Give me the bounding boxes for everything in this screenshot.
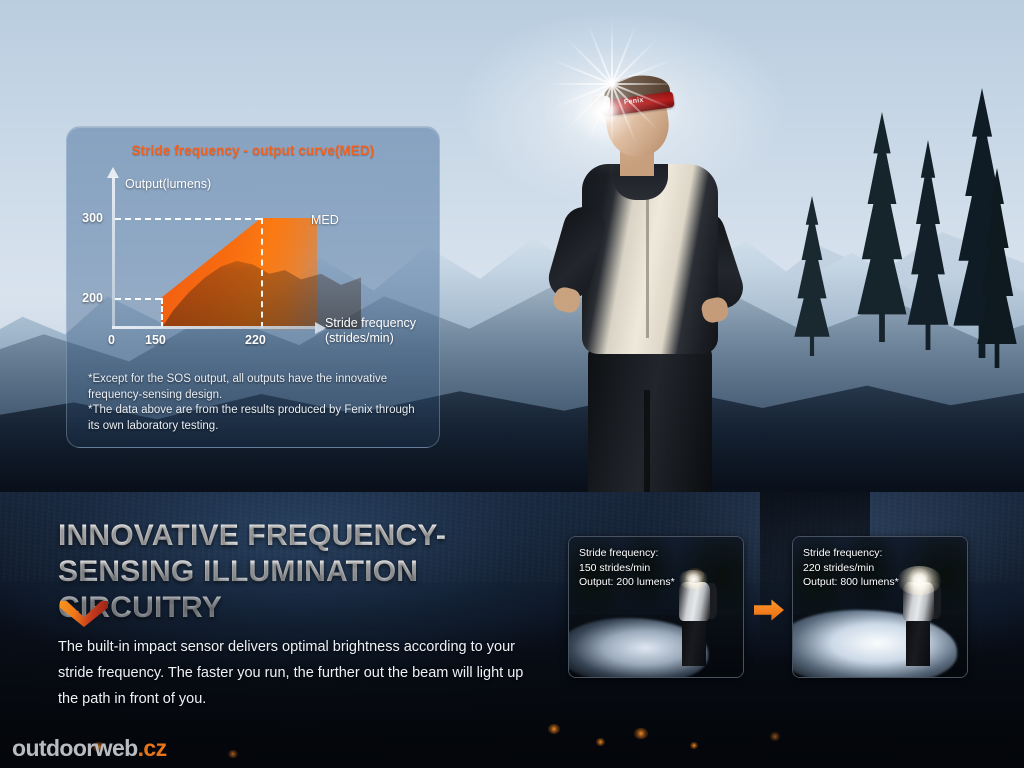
thumbnail-runner [670, 568, 722, 666]
thumbnail-runner [894, 568, 946, 666]
chart-footnotes: *Except for the SOS output, all outputs … [88, 372, 422, 434]
watermark-tld: .cz [138, 735, 167, 761]
y-axis-label: Output(lumens) [125, 177, 211, 191]
ember-light [690, 742, 698, 749]
ember-light [770, 732, 780, 741]
y-tick-0: 0 [85, 333, 115, 347]
runner-legs [906, 619, 930, 666]
ember-light [548, 724, 560, 734]
y-tick-200: 200 [73, 291, 103, 305]
gridline-200 [115, 298, 161, 300]
site-watermark: outdoorweb.cz [12, 736, 166, 760]
gridline-220 [261, 218, 263, 328]
gridline-150 [161, 298, 163, 328]
y-tick-300: 300 [73, 211, 103, 225]
ember-light [596, 738, 605, 746]
y-axis-arrowhead-icon [107, 167, 119, 178]
headlamp-icon [897, 566, 942, 595]
thumbnail-caption: Stride frequency: 150 strides/min Output… [579, 546, 675, 590]
ember-light [228, 750, 238, 758]
thumbnail-caption: Stride frequency: 220 strides/min Output… [803, 546, 899, 590]
runner-leg-split [644, 390, 650, 492]
watermark-name: outdoorweb [12, 735, 138, 761]
gridline-300 [115, 218, 261, 220]
runner-legs [588, 342, 712, 492]
x-tick-150: 150 [145, 333, 166, 347]
x-axis-label: Stride frequency (strides/min) [325, 316, 416, 346]
y-axis [112, 177, 115, 329]
x-axis-label-line1: Stride frequency [325, 316, 416, 331]
ember-light [634, 728, 648, 739]
section-headline: INNOVATIVE FREQUENCY-SENSING ILLUMINATIO… [58, 518, 578, 626]
runner-figure: Fenix [520, 60, 780, 492]
x-axis [112, 326, 317, 329]
thumbnail-high-cadence: Stride frequency: 220 strides/min Output… [792, 536, 968, 678]
product-feature-banner: Fenix Stride frequency - output curve(ME… [0, 0, 1024, 768]
headlamp-icon [678, 570, 708, 590]
hero-photo: Fenix Stride frequency - output curve(ME… [0, 0, 1024, 492]
runner-jacket-zip [646, 188, 649, 338]
section-body-text: The built-in impact sensor delivers opti… [58, 634, 530, 712]
headlamp-icon [592, 96, 610, 110]
series-label-med: MED [311, 213, 339, 227]
x-axis-label-line2: (strides/min) [325, 331, 416, 346]
x-tick-220: 220 [245, 333, 266, 347]
thumbnail-low-cadence: Stride frequency: 150 strides/min Output… [568, 536, 744, 678]
runner-legs [682, 619, 706, 666]
